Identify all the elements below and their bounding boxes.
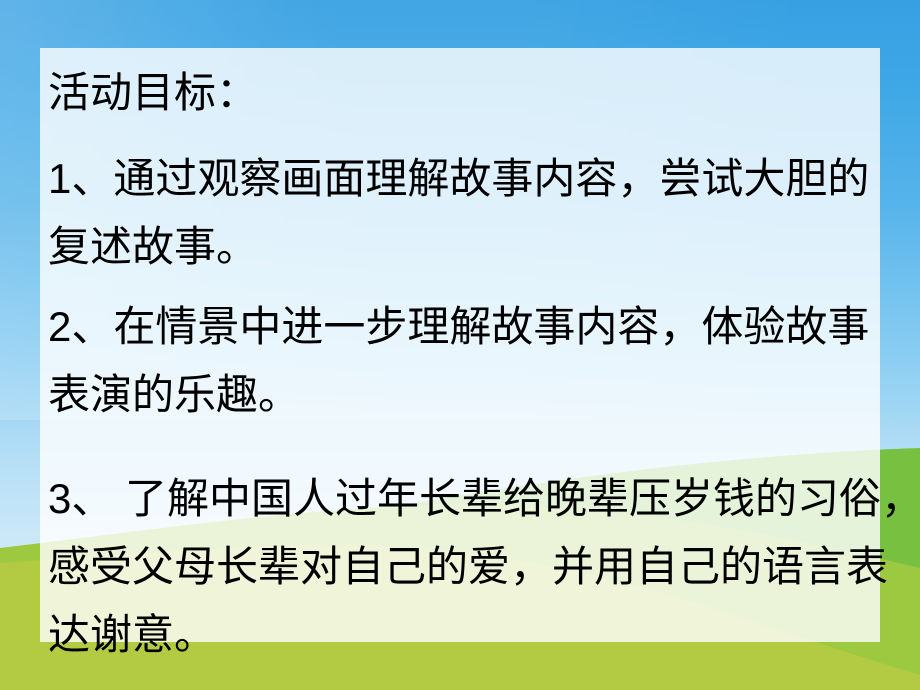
objective-3-line-1: 3、 了解中国人过年长辈给晚辈压岁钱的习俗， <box>48 478 920 520</box>
objective-2-line-1: 2、在情景中进一步理解故事内容，体验故事 <box>48 306 869 348</box>
objective-1-line-1: 1、通过观察画面理解故事内容，尝试大胆的 <box>48 158 869 200</box>
objective-3-line-2: 感受父母长辈对自己的爱，并用自己的语言表 <box>48 546 888 588</box>
objective-2-line-2: 表演的乐趣。 <box>48 374 300 416</box>
slide-canvas: 活动目标： 1、通过观察画面理解故事内容，尝试大胆的 复述故事。 2、在情景中进… <box>0 0 920 690</box>
slide-title: 活动目标： <box>48 72 258 114</box>
text-layer: 活动目标： 1、通过观察画面理解故事内容，尝试大胆的 复述故事。 2、在情景中进… <box>0 0 920 690</box>
objective-3-line-3: 达谢意。 <box>48 614 216 656</box>
objective-1-line-2: 复述故事。 <box>48 226 258 268</box>
